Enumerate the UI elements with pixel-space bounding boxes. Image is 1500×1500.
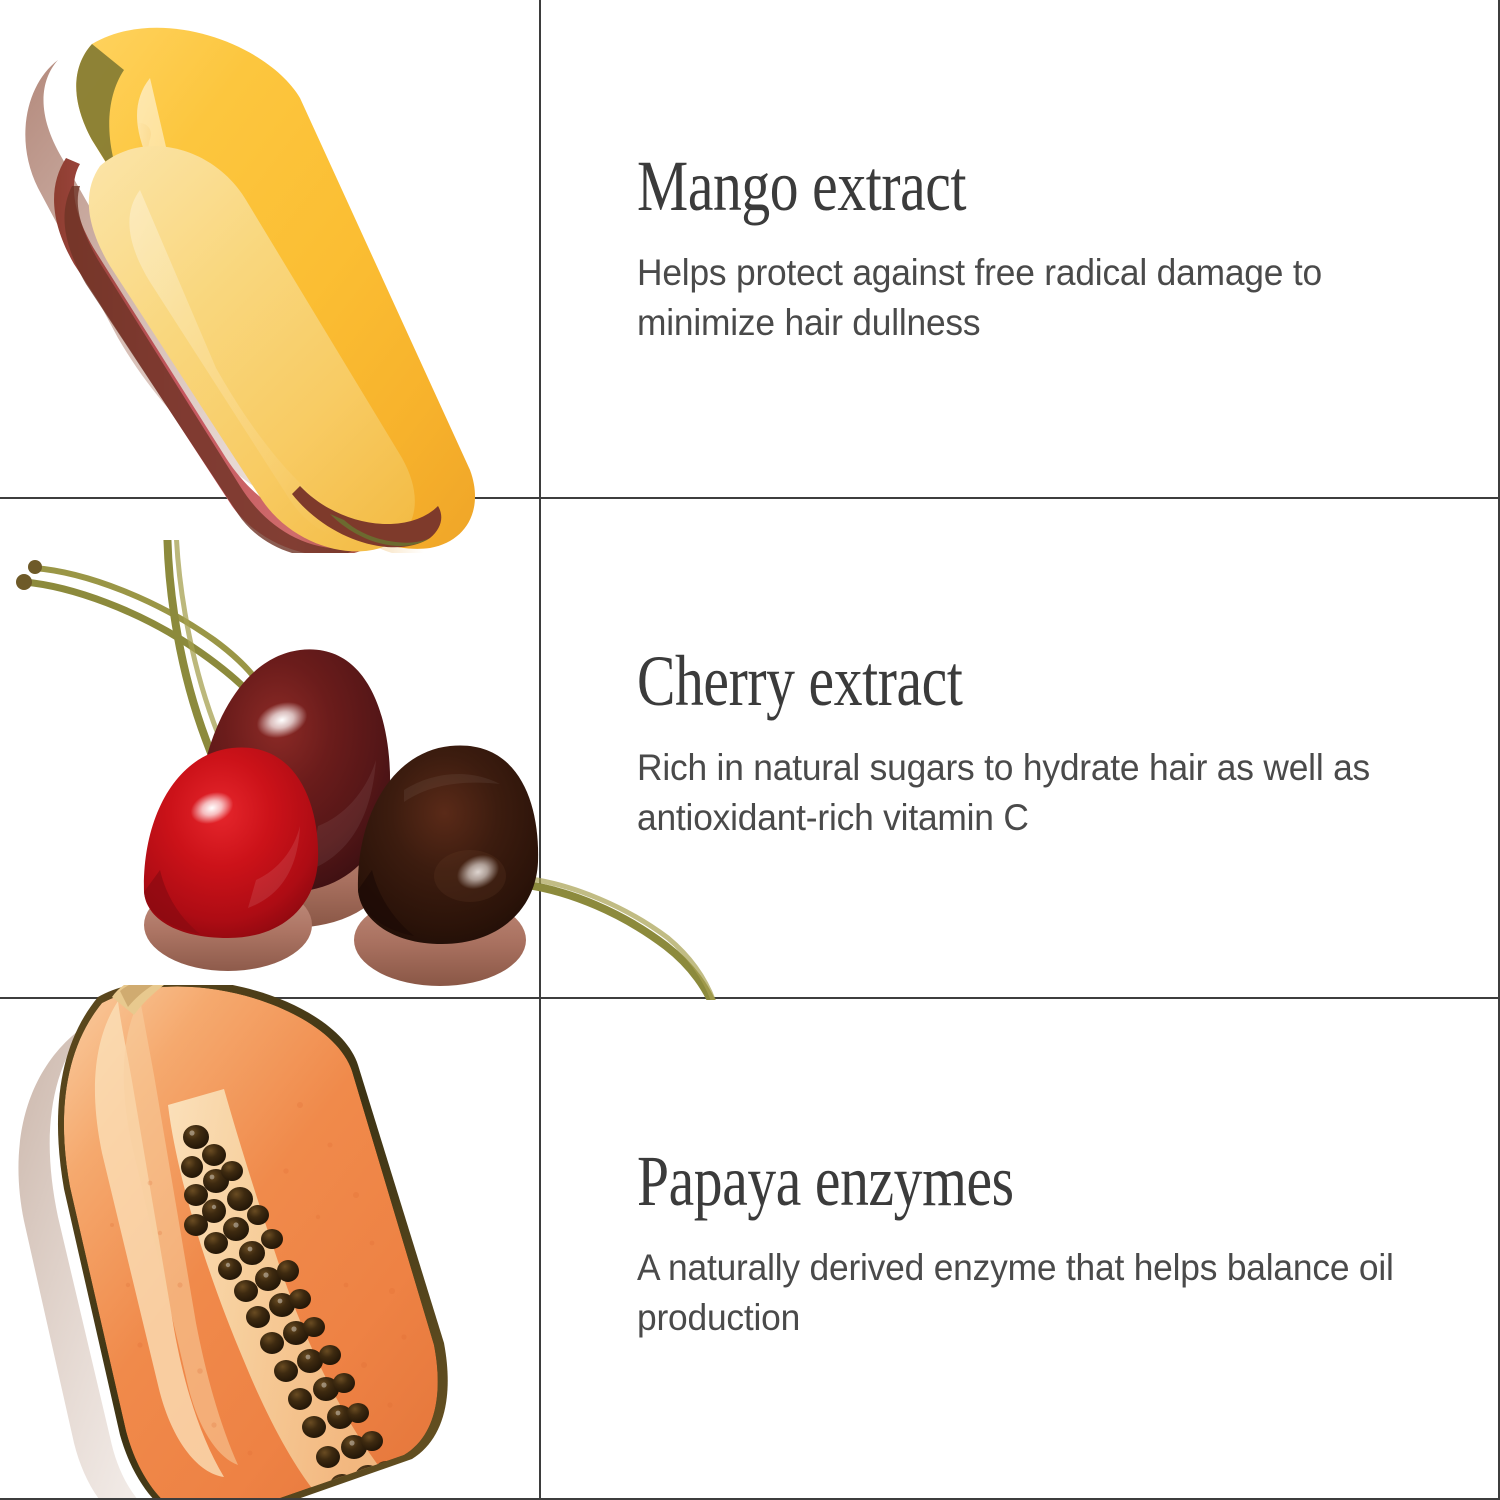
cherry-heading: Cherry extract: [637, 645, 1279, 717]
mango-description: Helps protect against free radical damag…: [637, 248, 1404, 347]
mango-text-cell: Mango extract Helps protect against free…: [539, 150, 1500, 347]
papaya-half-photo: [0, 985, 539, 1500]
papaya-description: A naturally derived enzyme that helps ba…: [637, 1243, 1404, 1342]
cherry-text-cell: Cherry extract Rich in natural sugars to…: [539, 645, 1500, 842]
papaya-heading: Papaya enzymes: [637, 1145, 1279, 1217]
cherry-image-cell: [0, 540, 539, 1000]
cherry-red: [144, 747, 318, 1000]
mango-slices-photo: [0, 8, 560, 553]
mango-heading: Mango extract: [637, 150, 1279, 222]
cherry-description: Rich in natural sugars to hydrate hair a…: [637, 743, 1404, 842]
mango-image-cell: [0, 8, 539, 553]
papaya-text-cell: Papaya enzymes A naturally derived enzym…: [539, 1145, 1500, 1342]
papaya-image-cell: [0, 985, 539, 1500]
ingredient-benefits-panel: Mango extract Helps protect against free…: [0, 0, 1500, 1500]
